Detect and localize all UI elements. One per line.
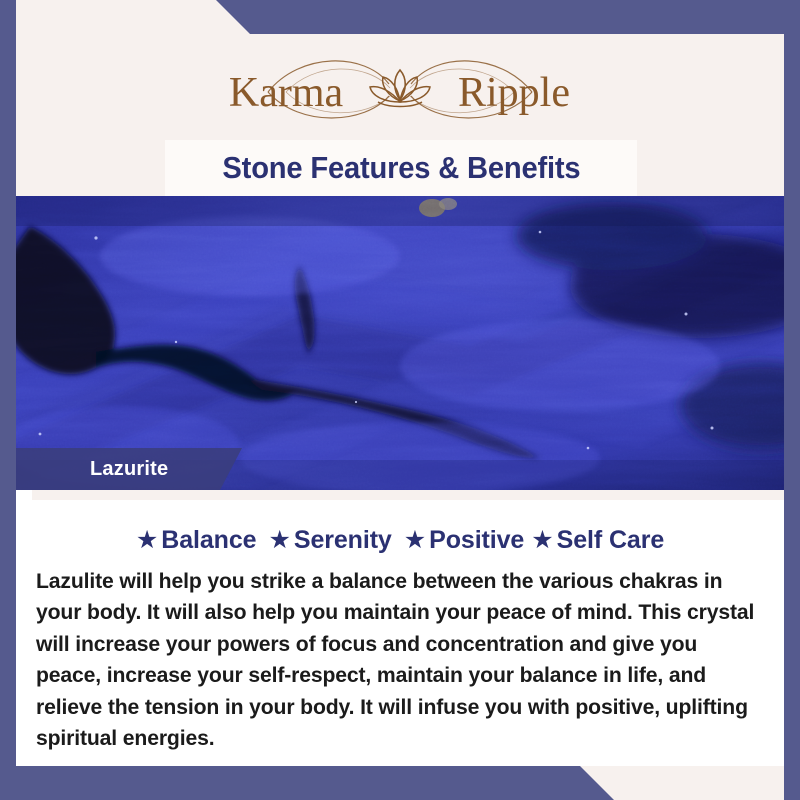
lotus-icon [370,70,430,107]
keyword-label: Balance [161,526,256,555]
stone-info-poster: Karma Ripple Stone Features & Benefits [0,0,800,800]
keyword-item-balance: ★ Balance [136,526,257,555]
keyword-label: Serenity [294,526,392,555]
brand-name-right: Ripple [458,70,570,116]
keyword-item-self-care: ★ Self Care [531,526,664,555]
keyword-item-positive: ★ Positive [404,526,525,555]
stone-name: Lazurite [90,458,168,481]
keyword-label: Positive [429,526,524,555]
star-icon: ★ [268,528,290,553]
stone-photo [0,196,800,490]
brand-name-left: Karma [229,70,344,116]
top-right-accent-shape [0,0,800,34]
star-icon: ★ [136,528,158,553]
star-icon: ★ [531,528,553,553]
keyword-label: Self Care [557,526,665,555]
right-edge-accent-strip [784,0,800,800]
keyword-list: ★ Balance ★ Serenity ★ Positive ★ Self C… [16,526,784,555]
stone-name-banner: Lazurite [16,448,242,490]
karma-ripple-logo-svg: Karma Ripple [190,44,610,130]
bottom-left-accent-shape [0,766,800,800]
brand-logo: Karma Ripple [16,34,784,140]
left-edge-accent-strip [0,0,16,800]
page-title: Stone Features & Benefits [222,150,580,186]
keyword-item-serenity: ★ Serenity [268,526,391,555]
page-title-panel: Stone Features & Benefits [165,140,637,196]
panel-top-stripe [32,490,784,500]
star-icon: ★ [404,528,426,553]
stone-texture-svg [0,196,800,490]
stone-benefits-panel: ★ Balance ★ Serenity ★ Positive ★ Self C… [16,490,784,766]
stone-description: Lazulite will help you strike a balance … [36,566,757,754]
